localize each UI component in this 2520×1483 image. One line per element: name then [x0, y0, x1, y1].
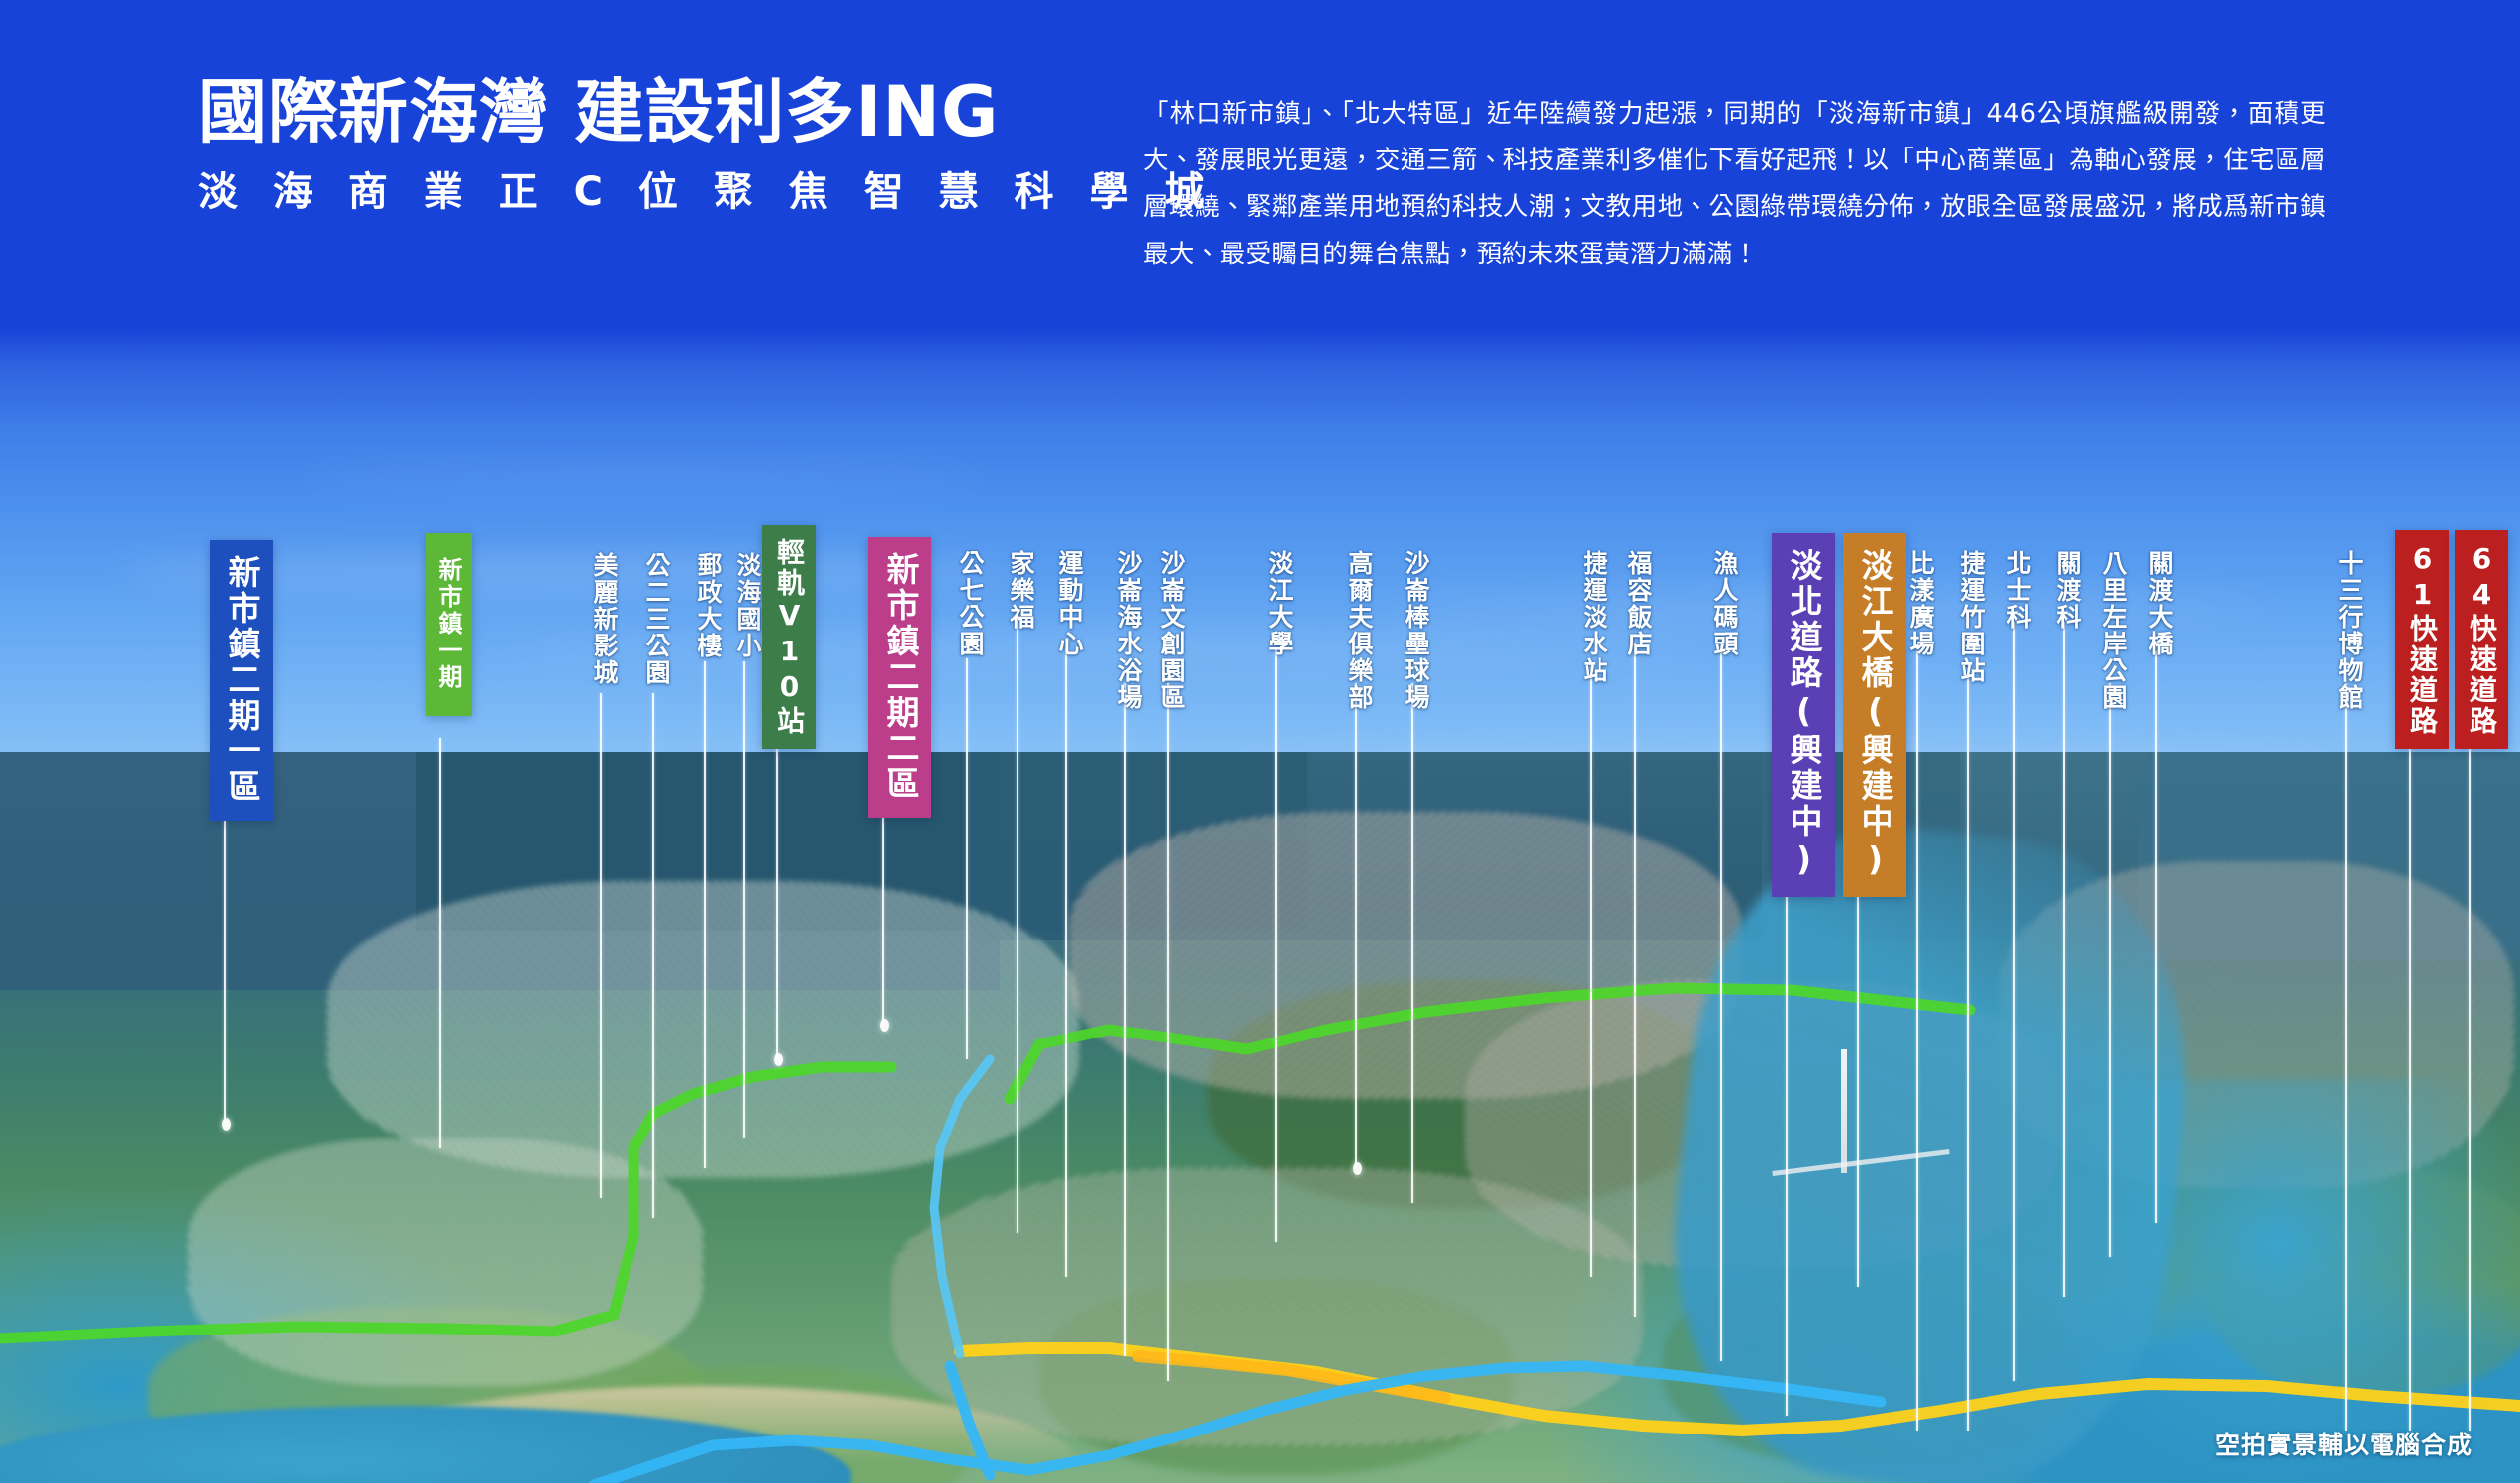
marker-leader-line: [1124, 683, 1126, 1356]
marker-leader-line: [1916, 651, 1918, 1431]
marker-text-label[interactable]: 關渡科: [2049, 550, 2084, 631]
marker-leader-line: [1355, 683, 1357, 1168]
marker-leader-line: [652, 693, 654, 1218]
marker-leader-line: [2469, 690, 2471, 1431]
marker-text-label[interactable]: 淡江大學: [1261, 550, 1297, 657]
marker-leader-line: [600, 693, 602, 1198]
marker-badge-label[interactable]: 淡江大橋(興建中): [1843, 533, 1906, 897]
marker-text-label[interactable]: 關渡大橋: [2141, 550, 2177, 657]
marker-leader-line: [439, 738, 441, 1148]
marker-leader-line: [1967, 668, 1969, 1431]
marker-leader-line: [1720, 643, 1722, 1361]
marker-leader-line: [704, 661, 706, 1168]
marker-text-label[interactable]: 福容飯店: [1620, 550, 1656, 657]
marker-text-label[interactable]: 北士科: [1999, 550, 2035, 631]
marker-endpoint-dot: [774, 1053, 783, 1066]
marker-text-label[interactable]: 家樂福: [1003, 550, 1038, 631]
poster-canvas: 國際新海灣 建設利多ING 淡 海 商 業 正 C 位 聚 焦 智 慧 科 學 …: [0, 0, 2520, 1483]
marker-text-label[interactable]: 沙崙海水浴場: [1111, 550, 1146, 711]
marker-text-label[interactable]: 沙崙棒壘球場: [1398, 550, 1433, 711]
marker-leader-line: [1017, 614, 1018, 1233]
marker-leader-line: [2409, 690, 2411, 1431]
marker-leader-line: [1065, 648, 1067, 1277]
marker-text-label[interactable]: 高爾夫俱樂部: [1341, 550, 1377, 711]
marker-leader-line: [1275, 648, 1277, 1242]
marker-leader-line: [2155, 651, 2157, 1223]
marker-text-label[interactable]: 八里左岸公園: [2095, 550, 2131, 711]
marker-text-label[interactable]: 比漾廣場: [1902, 550, 1938, 657]
page-subtitle: 淡 海 商 業 正 C 位 聚 焦 智 慧 科 學 城: [198, 172, 1214, 212]
marker-text-label[interactable]: 沙崙文創園區: [1153, 550, 1189, 711]
marker-leader-line: [743, 661, 745, 1138]
marker-badge-label[interactable]: 淡北道路(興建中): [1772, 533, 1835, 897]
marker-endpoint-dot: [1353, 1162, 1362, 1175]
marker-badge-label[interactable]: 新市鎮一期: [426, 533, 472, 716]
marker-text-label[interactable]: 十三行博物館: [2331, 550, 2367, 711]
marker-text-label[interactable]: 漁人碼頭: [1706, 550, 1742, 657]
marker-text-label[interactable]: 捷運竹圍站: [1953, 550, 1988, 684]
marker-text-label[interactable]: 美麗新影城: [586, 552, 622, 686]
marker-text-label[interactable]: 郵政大樓: [690, 552, 726, 659]
marker-leader-line: [2013, 622, 2015, 1381]
marker-leader-line: [1590, 663, 1592, 1277]
page-title: 國際新海灣 建設利多ING: [198, 77, 1214, 147]
marker-badge-label[interactable]: 64快速道路: [2455, 530, 2508, 749]
marker-leader-line: [224, 792, 226, 1124]
marker-text-label[interactable]: 運動中心: [1051, 550, 1087, 657]
header: 國際新海灣 建設利多ING 淡 海 商 業 正 C 位 聚 焦 智 慧 科 學 …: [0, 0, 2520, 327]
marker-leader-line: [2063, 622, 2065, 1297]
marker-text-label[interactable]: 公七公園: [952, 550, 988, 657]
marker-text-label[interactable]: 淡海國小: [729, 552, 765, 659]
marker-leader-line: [882, 785, 884, 1025]
marker-badge-label[interactable]: 輕軌V10站: [762, 525, 816, 749]
marker-leader-line: [966, 658, 968, 1059]
headline-block: 國際新海灣 建設利多ING 淡 海 商 業 正 C 位 聚 焦 智 慧 科 學 …: [198, 77, 1214, 212]
marker-endpoint-dot: [222, 1118, 231, 1131]
marker-endpoint-dot: [880, 1019, 889, 1032]
marker-leader-line: [2345, 683, 2347, 1431]
marker-leader-line: [1634, 643, 1636, 1317]
marker-badge-label[interactable]: 新市鎮二期一區: [210, 540, 273, 821]
marker-leader-line: [1167, 683, 1169, 1381]
marker-leader-line: [1411, 683, 1413, 1203]
marker-badge-label[interactable]: 61快速道路: [2395, 530, 2449, 749]
marker-text-label[interactable]: 公二三公園: [638, 552, 674, 686]
marker-badge-label[interactable]: 新市鎮二期二區: [868, 537, 931, 818]
intro-paragraph: 「林口新市鎮」、「北大特區」近年陸續發力起漲，同期的「淡海新市鎮」446公頃旗艦…: [1143, 91, 2326, 278]
marker-text-label[interactable]: 捷運淡水站: [1576, 550, 1611, 684]
marker-leader-line: [2109, 683, 2111, 1257]
disclaimer-text: 空拍實景輔以電腦合成: [2215, 1426, 2472, 1461]
